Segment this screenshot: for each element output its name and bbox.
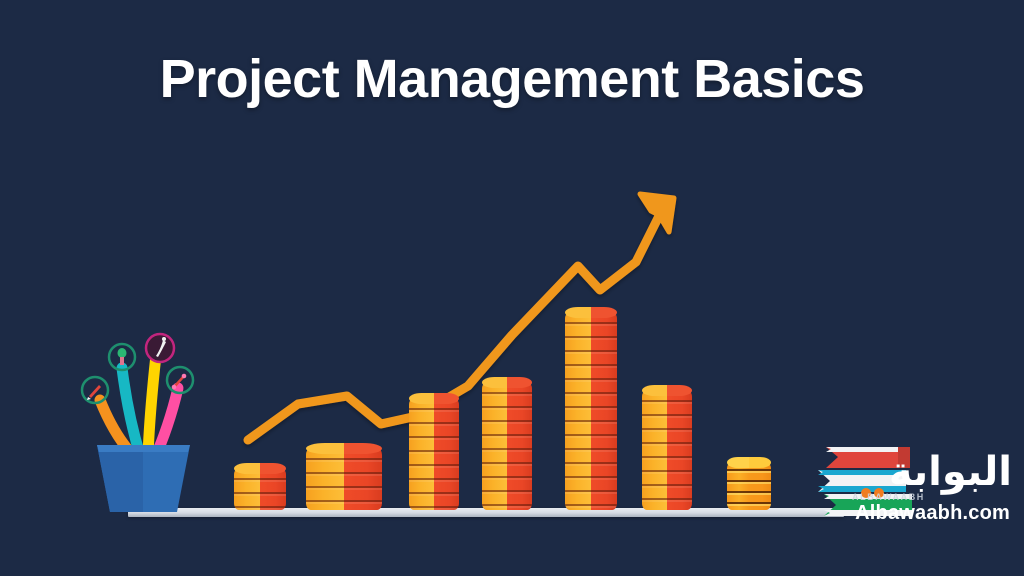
logo-overlay-text: ALBAWAABH: [852, 492, 925, 502]
slide-canvas: Project Management Basics: [0, 0, 1024, 576]
logo-site-text: Albawaabh.com: [855, 502, 1010, 525]
logo-arabic-text: البوابة: [889, 452, 1012, 492]
albawaabh-logo[interactable]: البوابة ALBAWAABH Albawaabh.com: [810, 440, 1024, 560]
